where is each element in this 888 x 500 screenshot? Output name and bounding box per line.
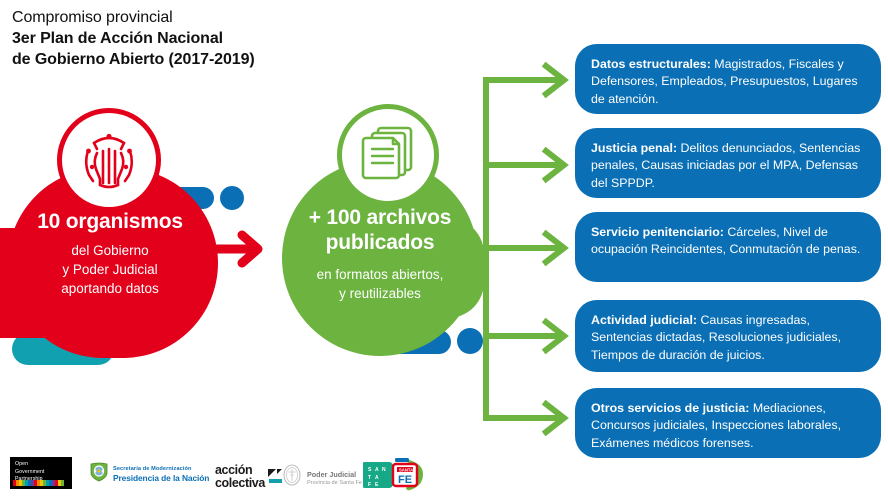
item-title: Datos estructurales: bbox=[591, 57, 711, 71]
handshake-network-icon bbox=[57, 108, 161, 212]
title-line-3: de Gobierno Abierto (2017-2019) bbox=[12, 50, 342, 71]
ogp-line-1: Open bbox=[15, 461, 72, 469]
poder-judicial-line-1: Poder Judicial bbox=[307, 470, 362, 479]
organismos-subline-3: aportando datos bbox=[10, 279, 210, 298]
santa-fe-logo-icon: SAN TA FE SANTA FE bbox=[363, 452, 427, 496]
right-arrow-icon bbox=[212, 228, 272, 270]
item-title: Servicio penitenciario: bbox=[591, 225, 724, 239]
archivos-label: + 100 archivos publicados en formatos ab… bbox=[283, 206, 477, 303]
svg-text:A: A bbox=[375, 475, 379, 481]
accion-colectiva-line-1: acción bbox=[215, 464, 265, 477]
archivos-subline-2: y reutilizables bbox=[283, 284, 477, 303]
modernizacion-line-2: Presidencia de la Nación bbox=[113, 473, 209, 483]
archivos-headline-1: + 100 archivos bbox=[283, 206, 477, 231]
poder-judicial-logo: Poder Judicial Provincia de Santa Fe bbox=[282, 464, 362, 491]
modernizacion-line-1: Secretaría de Modernización bbox=[113, 466, 209, 472]
item-title: Actividad judicial: bbox=[591, 313, 697, 327]
santafe-tag-line-2: FE bbox=[398, 474, 412, 486]
item-title: Otros servicios de justicia: bbox=[591, 401, 749, 415]
archivos-headline-2: publicados bbox=[283, 231, 477, 256]
santafe-tag-line-1: SANTA bbox=[399, 467, 413, 472]
item-title: Justicia penal: bbox=[591, 141, 677, 155]
accion-colectiva-line-2: colectiva bbox=[215, 477, 265, 490]
page-title: Compromiso provincial 3er Plan de Acción… bbox=[12, 8, 342, 70]
secretaria-modernizacion-logo: Secretaría de Modernización Presidencia … bbox=[90, 462, 209, 487]
organismos-headline: 10 organismos bbox=[10, 210, 210, 234]
ogp-color-bars bbox=[13, 480, 64, 486]
title-line-2: 3er Plan de Acción Nacional bbox=[12, 29, 342, 50]
blue-accent-dot-1 bbox=[220, 186, 244, 210]
title-line-1: Compromiso provincial bbox=[12, 8, 342, 29]
poder-judicial-line-2: Provincia de Santa Fe bbox=[307, 480, 362, 486]
organismos-label: 10 organismos del Gobierno y Poder Judic… bbox=[10, 210, 210, 298]
branching-arrows-icon bbox=[470, 40, 586, 440]
svg-text:A: A bbox=[375, 467, 379, 473]
argentina-sun-shield-icon bbox=[90, 462, 108, 487]
list-item[interactable]: Servicio penitenciario: Cárceles, Nivel … bbox=[575, 212, 881, 282]
infographic-canvas: Compromiso provincial 3er Plan de Acción… bbox=[0, 0, 888, 500]
list-item[interactable]: Otros servicios de justicia: Mediaciones… bbox=[575, 388, 881, 458]
open-government-partnership-logo: Open Government Partnership bbox=[10, 457, 72, 489]
svg-text:F: F bbox=[368, 482, 371, 488]
list-item[interactable]: Actividad judicial: Causas ingresadas, S… bbox=[575, 300, 881, 372]
archivos-subline-1: en formatos abiertos, bbox=[283, 265, 477, 284]
judicial-crest-icon bbox=[282, 464, 302, 491]
svg-text:N: N bbox=[382, 467, 386, 473]
list-item[interactable]: Justicia penal: Delitos denunciados, Sen… bbox=[575, 128, 881, 198]
documents-stack-icon bbox=[337, 104, 439, 206]
accion-colectiva-logo: acción colectiva bbox=[215, 464, 283, 490]
accion-colectiva-arrows-icon bbox=[267, 468, 283, 489]
organismos-subline-1: del Gobierno bbox=[10, 241, 210, 260]
list-item[interactable]: Datos estructurales: Magistrados, Fiscal… bbox=[575, 44, 881, 114]
svg-text:T: T bbox=[368, 475, 371, 481]
ogp-line-2: Government bbox=[15, 469, 72, 477]
organismos-subline-2: y Poder Judicial bbox=[10, 260, 210, 279]
